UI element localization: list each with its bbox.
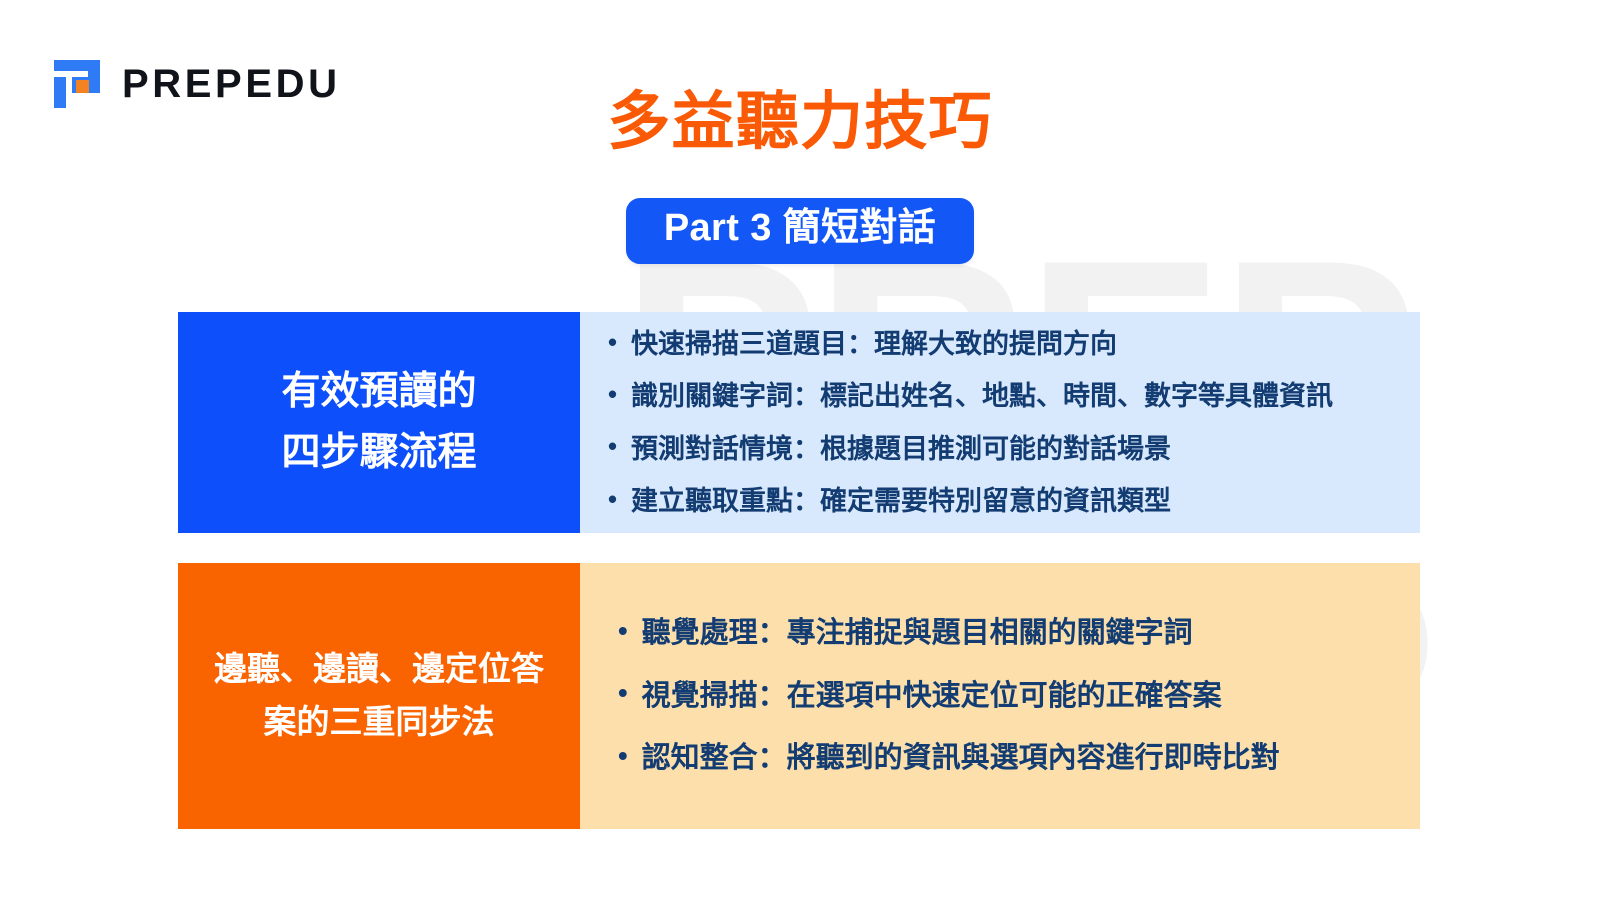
page-title: 多益聽力技巧: [0, 88, 1600, 157]
section-1-bullet-list: • 快速掃描三道題目：理解大致的提問方向 • 識別關鍵字詞：標記出姓名、地點、時…: [580, 312, 1420, 533]
section-row-1: 有效預讀的 四步驟流程 • 快速掃描三道題目：理解大致的提問方向 • 識別關鍵字…: [178, 312, 1420, 533]
section-2-label: 邊聽、邊讀、邊定位答 案的三重同步法: [178, 563, 580, 829]
list-item: • 預測對話情境：根據題目推測可能的對話場景: [608, 433, 1390, 465]
part-badge: Part 3 簡短對話: [626, 198, 974, 264]
section-1-label-line-1: 有效預讀的: [281, 362, 476, 422]
list-item-text: 聽覺處理：專注捕捉與題目相關的關鍵字詞: [642, 616, 1390, 651]
bullet-dot-icon: •: [608, 331, 617, 357]
bullet-dot-icon: •: [618, 679, 628, 707]
list-item: • 建立聽取重點：確定需要特別留意的資訊類型: [608, 485, 1390, 517]
bullet-dot-icon: •: [618, 617, 628, 645]
list-item-text: 預測對話情境：根據題目推測可能的對話場景: [631, 433, 1390, 465]
section-2-label-line-1: 邊聽、邊讀、邊定位答: [214, 643, 544, 696]
bullet-dot-icon: •: [608, 435, 617, 461]
bullet-dot-icon: •: [608, 488, 617, 514]
slide-canvas: PREP PREP PREPEDU 多益聽力技巧 Part 3 簡短對話 有效預…: [0, 0, 1600, 900]
list-item: • 聽覺處理：專注捕捉與題目相關的關鍵字詞: [618, 616, 1390, 651]
list-item: • 識別關鍵字詞：標記出姓名、地點、時間、數字等具體資訊: [608, 380, 1390, 412]
list-item-text: 視覺掃描：在選項中快速定位可能的正確答案: [642, 679, 1390, 714]
list-item: • 快速掃描三道題目：理解大致的提問方向: [608, 328, 1390, 360]
list-item-text: 識別關鍵字詞：標記出姓名、地點、時間、數字等具體資訊: [631, 380, 1390, 412]
section-row-2: 邊聽、邊讀、邊定位答 案的三重同步法 • 聽覺處理：專注捕捉與題目相關的關鍵字詞…: [178, 563, 1420, 829]
section-2-label-line-2: 案的三重同步法: [214, 696, 544, 749]
section-2-bullet-list: • 聽覺處理：專注捕捉與題目相關的關鍵字詞 • 視覺掃描：在選項中快速定位可能的…: [580, 563, 1420, 829]
bullet-dot-icon: •: [608, 383, 617, 409]
list-item-text: 認知整合：將聽到的資訊與選項內容進行即時比對: [642, 741, 1390, 776]
list-item-text: 快速掃描三道題目：理解大致的提問方向: [631, 328, 1390, 360]
list-item: • 認知整合：將聽到的資訊與選項內容進行即時比對: [618, 741, 1390, 776]
bullet-dot-icon: •: [618, 742, 628, 770]
list-item: • 視覺掃描：在選項中快速定位可能的正確答案: [618, 679, 1390, 714]
part-badge-row: Part 3 簡短對話: [0, 198, 1600, 264]
list-item-text: 建立聽取重點：確定需要特別留意的資訊類型: [631, 485, 1390, 517]
section-1-label-line-2: 四步驟流程: [281, 423, 476, 483]
section-1-label: 有效預讀的 四步驟流程: [178, 312, 580, 533]
